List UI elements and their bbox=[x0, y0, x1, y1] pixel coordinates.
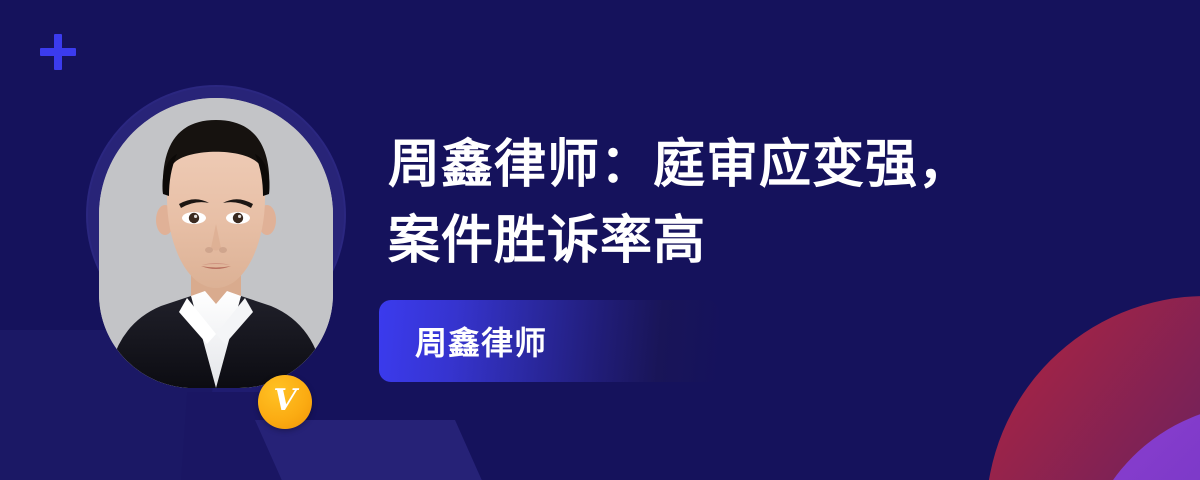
plus-icon bbox=[40, 34, 76, 70]
avatar[interactable]: V bbox=[88, 87, 344, 387]
author-name-pill[interactable]: 周鑫律师 bbox=[379, 300, 719, 382]
verified-badge-label: V bbox=[273, 386, 296, 416]
verified-badge-icon: V bbox=[258, 375, 312, 429]
avatar-photo bbox=[99, 98, 333, 388]
author-name-label: 周鑫律师 bbox=[415, 318, 547, 364]
decor-panel-triangle bbox=[255, 420, 544, 480]
banner-card: V 周鑫律师：庭审应变强， 案件胜诉率高 周鑫律师 bbox=[0, 0, 1200, 480]
page-title: 周鑫律师：庭审应变强， 案件胜诉率高 bbox=[388, 127, 1128, 279]
